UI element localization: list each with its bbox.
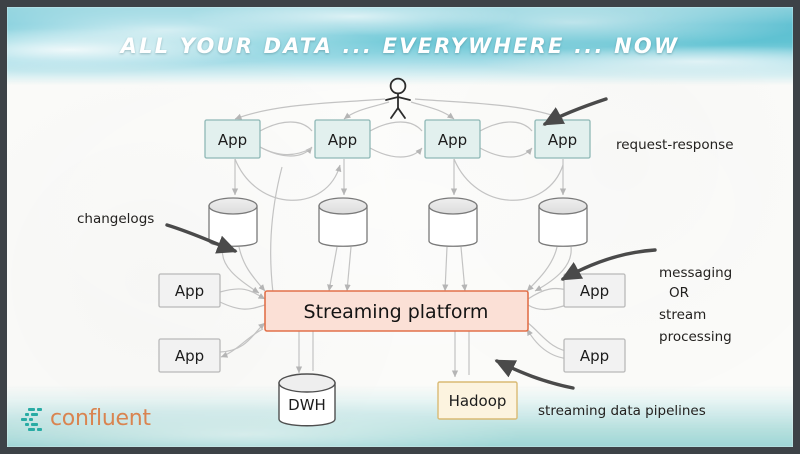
user-stick-figure-icon bbox=[386, 79, 410, 118]
database-cylinder-3[interactable] bbox=[429, 198, 477, 246]
connector-app3-app4-b bbox=[480, 148, 532, 157]
database-cylinder-4[interactable] bbox=[539, 198, 587, 246]
confluent-mark-icon bbox=[21, 405, 47, 431]
architecture-diagram: App App App App bbox=[7, 7, 793, 447]
streaming-platform-box[interactable]: Streaming platform bbox=[265, 291, 528, 331]
connector-actor-app2 bbox=[344, 102, 389, 119]
connector-platform-leftapp1 bbox=[220, 302, 265, 309]
connector-leftapp2-platform bbox=[220, 323, 265, 352]
connector-app1-app3-arc bbox=[235, 159, 340, 200]
sink-hadoop-label: Hadoop bbox=[449, 392, 507, 410]
app-box-right-2-label: App bbox=[580, 347, 609, 365]
sink-dwh[interactable]: DWH bbox=[279, 374, 335, 426]
connector-actor-app4 bbox=[415, 99, 563, 119]
connector-app2-app3-a bbox=[370, 122, 422, 131]
app-box-top-2[interactable]: App bbox=[315, 120, 370, 158]
connector-layer bbox=[220, 99, 573, 377]
sink-dwh-label: DWH bbox=[288, 396, 326, 414]
app-box-top-1-label: App bbox=[218, 131, 247, 149]
app-box-left-2[interactable]: App bbox=[159, 339, 220, 372]
app-box-right-2[interactable]: App bbox=[564, 339, 625, 372]
connector-db3-platform-a bbox=[445, 247, 447, 291]
annotation-messaging-line-2: OR bbox=[669, 285, 689, 301]
connector-app3-app4-a bbox=[480, 122, 532, 131]
app-box-top-2-label: App bbox=[328, 131, 357, 149]
app-box-right-1-label: App bbox=[580, 282, 609, 300]
connector-app3-app4-arc bbox=[454, 159, 563, 200]
app-box-top-3[interactable]: App bbox=[425, 120, 480, 158]
slide-canvas: ALL YOUR DATA ... EVERYWHERE ... NOW bbox=[7, 7, 793, 447]
top-app-row: App App App App bbox=[205, 120, 590, 158]
app-box-left-1-label: App bbox=[175, 282, 204, 300]
streaming-platform-label: Streaming platform bbox=[304, 301, 489, 323]
annotation-messaging-line-4: processing bbox=[659, 329, 732, 345]
sink-hadoop[interactable]: Hadoop bbox=[438, 382, 517, 419]
connector-db3-platform-b bbox=[461, 247, 465, 291]
annotation-messaging-line-1: messaging bbox=[659, 265, 732, 281]
app-box-left-2-label: App bbox=[175, 347, 204, 365]
app-box-right-1[interactable]: App bbox=[564, 274, 625, 307]
confluent-wordmark: confluent bbox=[50, 406, 151, 431]
annotation-request-response: request-response bbox=[616, 137, 734, 153]
annotation-messaging-line-3: stream bbox=[659, 307, 706, 323]
app-box-top-4-label: App bbox=[548, 131, 577, 149]
connector-app1-platform-arc bbox=[271, 167, 282, 293]
app-box-left-1[interactable]: App bbox=[159, 274, 220, 307]
connector-db2-platform-a bbox=[329, 247, 337, 291]
connector-db1-platform-b bbox=[239, 247, 265, 291]
connector-db2-platform-b bbox=[347, 247, 351, 291]
connector-app1-app2-a bbox=[260, 122, 312, 131]
app-box-top-3-label: App bbox=[438, 131, 467, 149]
connector-db4-platform-a bbox=[527, 247, 557, 291]
app-box-top-4[interactable]: App bbox=[535, 120, 590, 158]
slide-frame: ALL YOUR DATA ... EVERYWHERE ... NOW bbox=[0, 0, 800, 454]
connector-leftapp1-platform bbox=[220, 289, 265, 299]
connector-actor-app3 bbox=[411, 102, 454, 119]
annotation-changelogs: changelogs bbox=[77, 211, 154, 227]
database-cylinder-1[interactable] bbox=[209, 198, 257, 246]
confluent-logo[interactable]: confluent bbox=[21, 405, 151, 431]
database-cylinder-2[interactable] bbox=[319, 198, 367, 246]
connector-platform-leftapp2 bbox=[221, 329, 263, 357]
connector-app2-app3-b bbox=[370, 148, 422, 157]
annotation-streaming-data-pipelines: streaming data pipelines bbox=[538, 403, 706, 419]
left-app-column: App App bbox=[159, 274, 220, 372]
right-app-column: App App bbox=[564, 274, 625, 372]
database-row bbox=[209, 198, 587, 246]
app-box-top-1[interactable]: App bbox=[205, 120, 260, 158]
